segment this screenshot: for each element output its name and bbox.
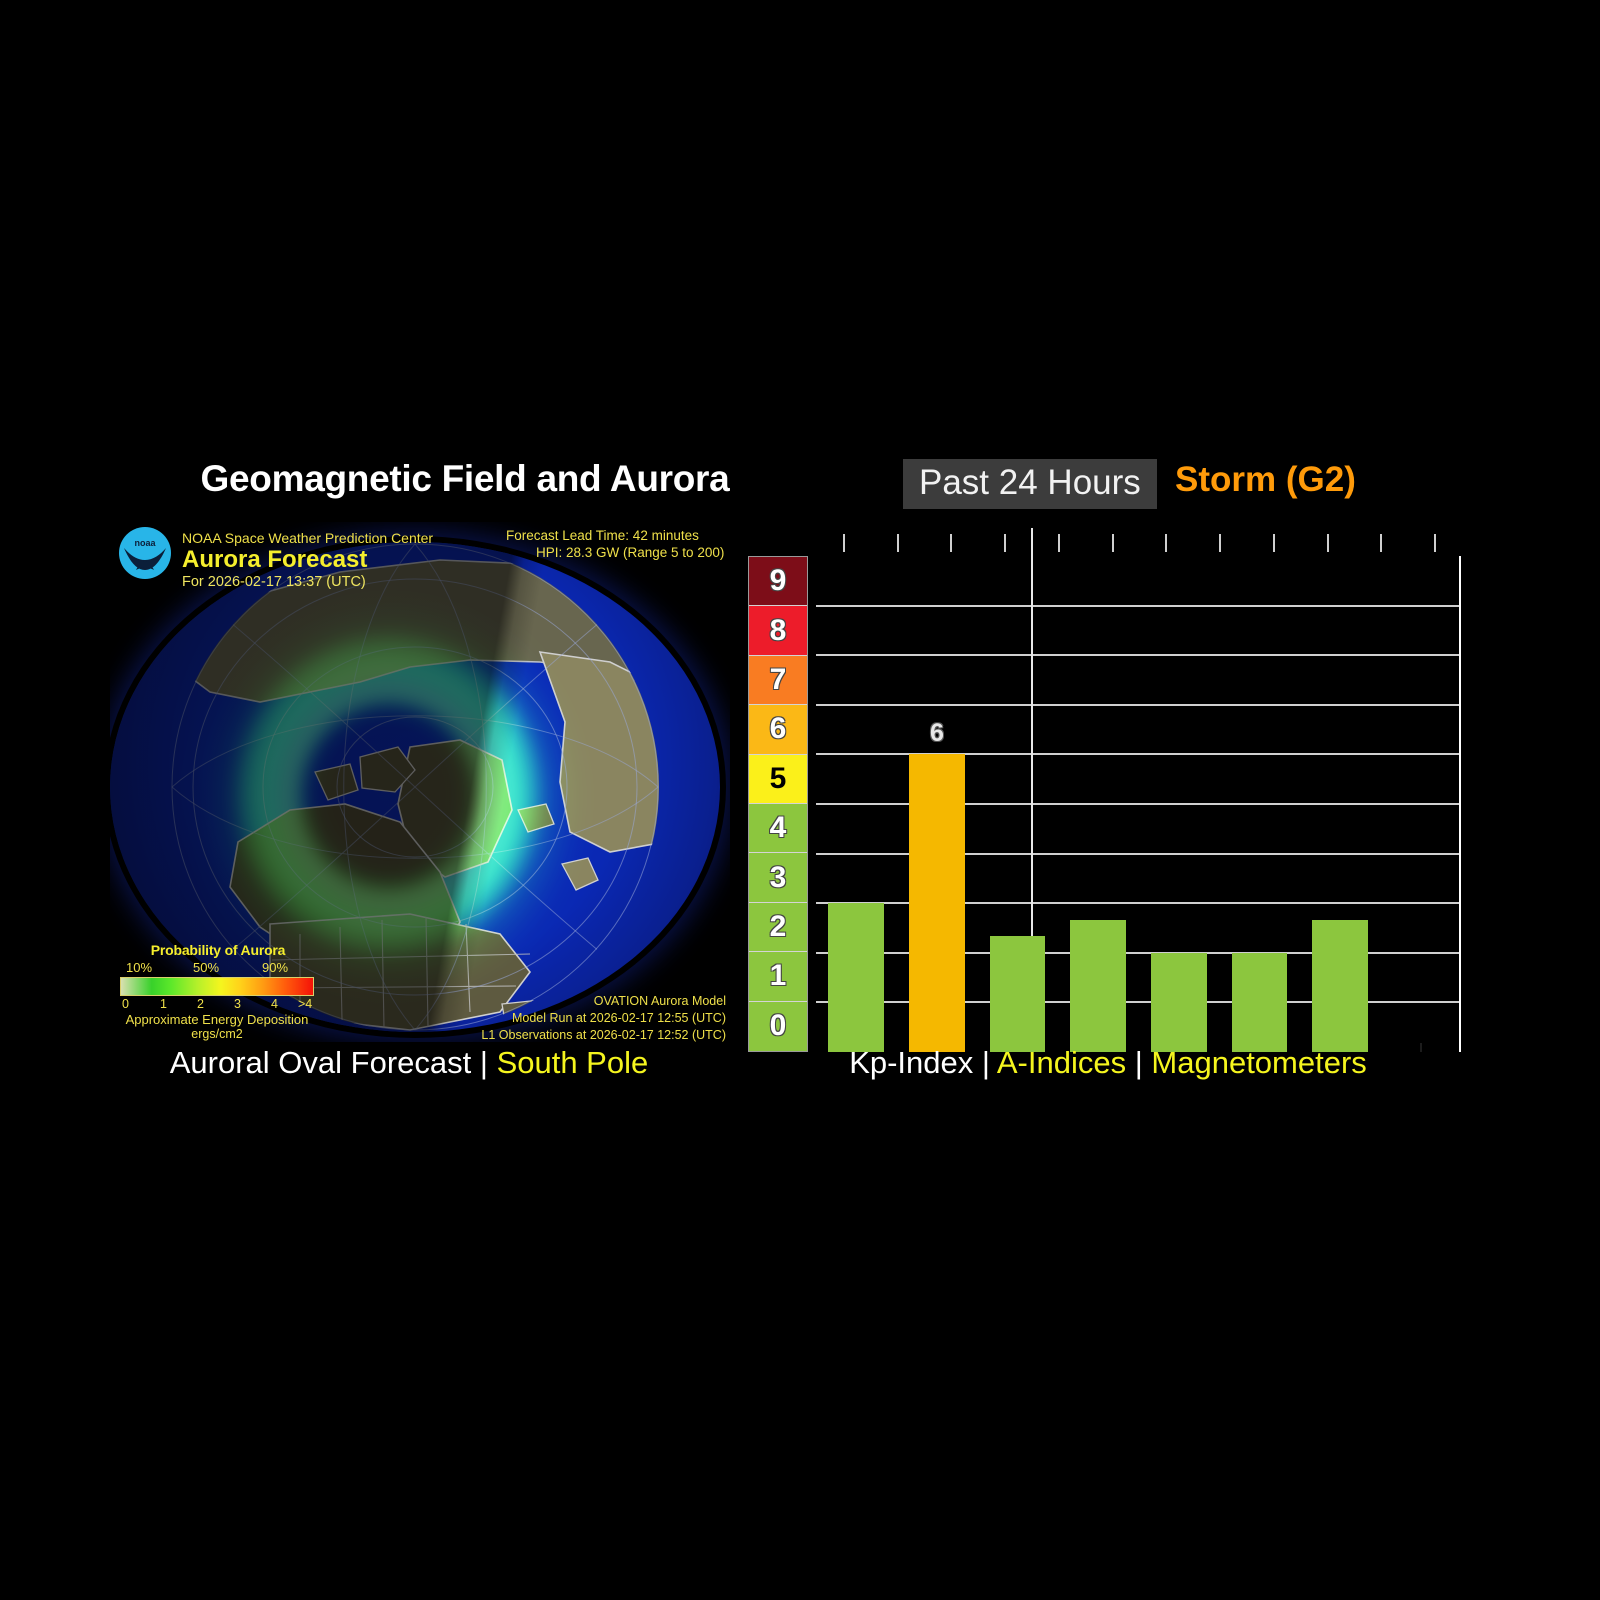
x-tick-8: [1273, 534, 1275, 552]
model-run-timestamp: Model Run at 2026-02-17 12:55 (UTC): [512, 1011, 726, 1025]
kp-scale-cell-0: 0: [749, 1002, 807, 1051]
x-tick-2: [950, 534, 952, 552]
x-tick-3: [1004, 534, 1006, 552]
gridline-kp-7: [816, 704, 1461, 706]
kp-bar[interactable]: [909, 754, 965, 1052]
aurora-nav-link-south-pole[interactable]: South Pole: [497, 1045, 649, 1080]
legend-title: Probability of Aurora: [118, 942, 318, 958]
agency-line: NOAA Space Weather Prediction Center: [182, 530, 433, 546]
aurora-nav: Auroral Oval Forecast | South Pole: [0, 1045, 818, 1081]
energy-tick-4: 4: [271, 997, 278, 1011]
prob-tick-90: 90%: [262, 960, 288, 975]
y-axis-right: [1459, 556, 1461, 1052]
svg-text:noaa: noaa: [134, 538, 156, 548]
energy-tick-3: 3: [234, 997, 241, 1011]
x-tick-6: [1165, 534, 1167, 552]
x-tick-11: [1434, 534, 1436, 552]
x-tick-0: [843, 534, 845, 552]
model-name: OVATION Aurora Model: [594, 994, 726, 1008]
kp-scale-cell-1: 1: [749, 952, 807, 1001]
kp-nav: Kp-Index | A-Indices | Magnetometers: [748, 1045, 1468, 1081]
legend-units: ergs/cm2: [118, 1027, 316, 1041]
product-title: Aurora Forecast: [182, 546, 367, 574]
kp-nav-link-a-indices[interactable]: A-Indices: [997, 1045, 1126, 1080]
kp-scale-cell-7: 7: [749, 656, 807, 705]
kp-scale-cell-2: 2: [749, 903, 807, 952]
gridline-kp-8: [816, 654, 1461, 656]
kp-nav-link-magnetometers[interactable]: Magnetometers: [1151, 1045, 1366, 1080]
kp-nav-separator-1: |: [982, 1045, 990, 1080]
x-tick-9: [1327, 534, 1329, 552]
aurora-nav-separator: |: [480, 1045, 488, 1080]
prob-tick-10: 10%: [126, 960, 152, 975]
x-tick-4: [1058, 534, 1060, 552]
probability-tick-row: 10% 50% 90%: [118, 960, 318, 977]
kp-bar[interactable]: [828, 903, 884, 1052]
kp-nav-current: Kp-Index: [849, 1045, 973, 1080]
gridline-kp-9: [816, 605, 1461, 607]
x-tick-10: [1380, 534, 1382, 552]
kp-scale-cell-3: 3: [749, 853, 807, 902]
globe-container: noaa NOAA Space Weather Prediction Cente…: [110, 522, 730, 1042]
energy-tick-2: 2: [197, 997, 204, 1011]
kp-color-scale: 9876543210: [748, 556, 808, 1052]
kp-bar[interactable]: [1312, 920, 1368, 1052]
kp-bar-value-label: 6: [930, 719, 944, 748]
energy-tick-1: 1: [160, 997, 167, 1011]
x-tick-7: [1219, 534, 1221, 552]
energy-tick-0: 0: [122, 997, 129, 1011]
kp-nav-separator-2: |: [1135, 1045, 1143, 1080]
energy-colorbar: [120, 977, 314, 996]
energy-tick-row: 01234>4: [118, 997, 318, 1013]
energy-tick-5: >4: [298, 997, 312, 1011]
l1-observation-timestamp: L1 Observations at 2026-02-17 12:52 (UTC…: [481, 1028, 726, 1042]
kp-bar[interactable]: [1151, 953, 1207, 1052]
kp-bar[interactable]: [1070, 920, 1126, 1052]
kp-index-chart[interactable]: 9876543210 6: [748, 528, 1468, 1048]
hemispheric-power-index: HPI: 28.3 GW (Range 5 to 200): [536, 545, 724, 560]
kp-scale-cell-5: 5: [749, 755, 807, 804]
page-title: Geomagnetic Field and Aurora: [0, 458, 930, 500]
aurora-nav-current: Auroral Oval Forecast: [170, 1045, 472, 1080]
probability-legend: Probability of Aurora 10% 50% 90% 01234>…: [118, 942, 318, 1041]
kp-bar[interactable]: [990, 936, 1046, 1052]
storm-level-badge: Storm (G2): [1175, 462, 1356, 497]
time-range-tab[interactable]: Past 24 Hours: [903, 459, 1157, 509]
aurora-forecast-panel[interactable]: noaa NOAA Space Weather Prediction Cente…: [110, 522, 730, 1042]
x-tick-5: [1112, 534, 1114, 552]
prob-tick-50: 50%: [193, 960, 219, 975]
kp-bar[interactable]: [1232, 953, 1288, 1052]
forecast-timestamp: For 2026-02-17 13:37 (UTC): [182, 574, 366, 590]
legend-caption: Approximate Energy Deposition: [118, 1012, 316, 1027]
space-weather-dashboard: Geomagnetic Field and Aurora Past 24 Hou…: [0, 0, 1600, 1600]
kp-plot-area: 6: [816, 556, 1461, 1052]
noaa-logo-icon: noaa: [116, 524, 174, 582]
kp-scale-cell-9: 9: [749, 557, 807, 606]
kp-scale-cell-6: 6: [749, 705, 807, 754]
kp-scale-cell-4: 4: [749, 804, 807, 853]
forecast-lead-time: Forecast Lead Time: 42 minutes: [506, 528, 699, 543]
kp-plot-inner: 6: [816, 556, 1461, 1052]
kp-scale-cell-8: 8: [749, 606, 807, 655]
x-tick-1: [897, 534, 899, 552]
